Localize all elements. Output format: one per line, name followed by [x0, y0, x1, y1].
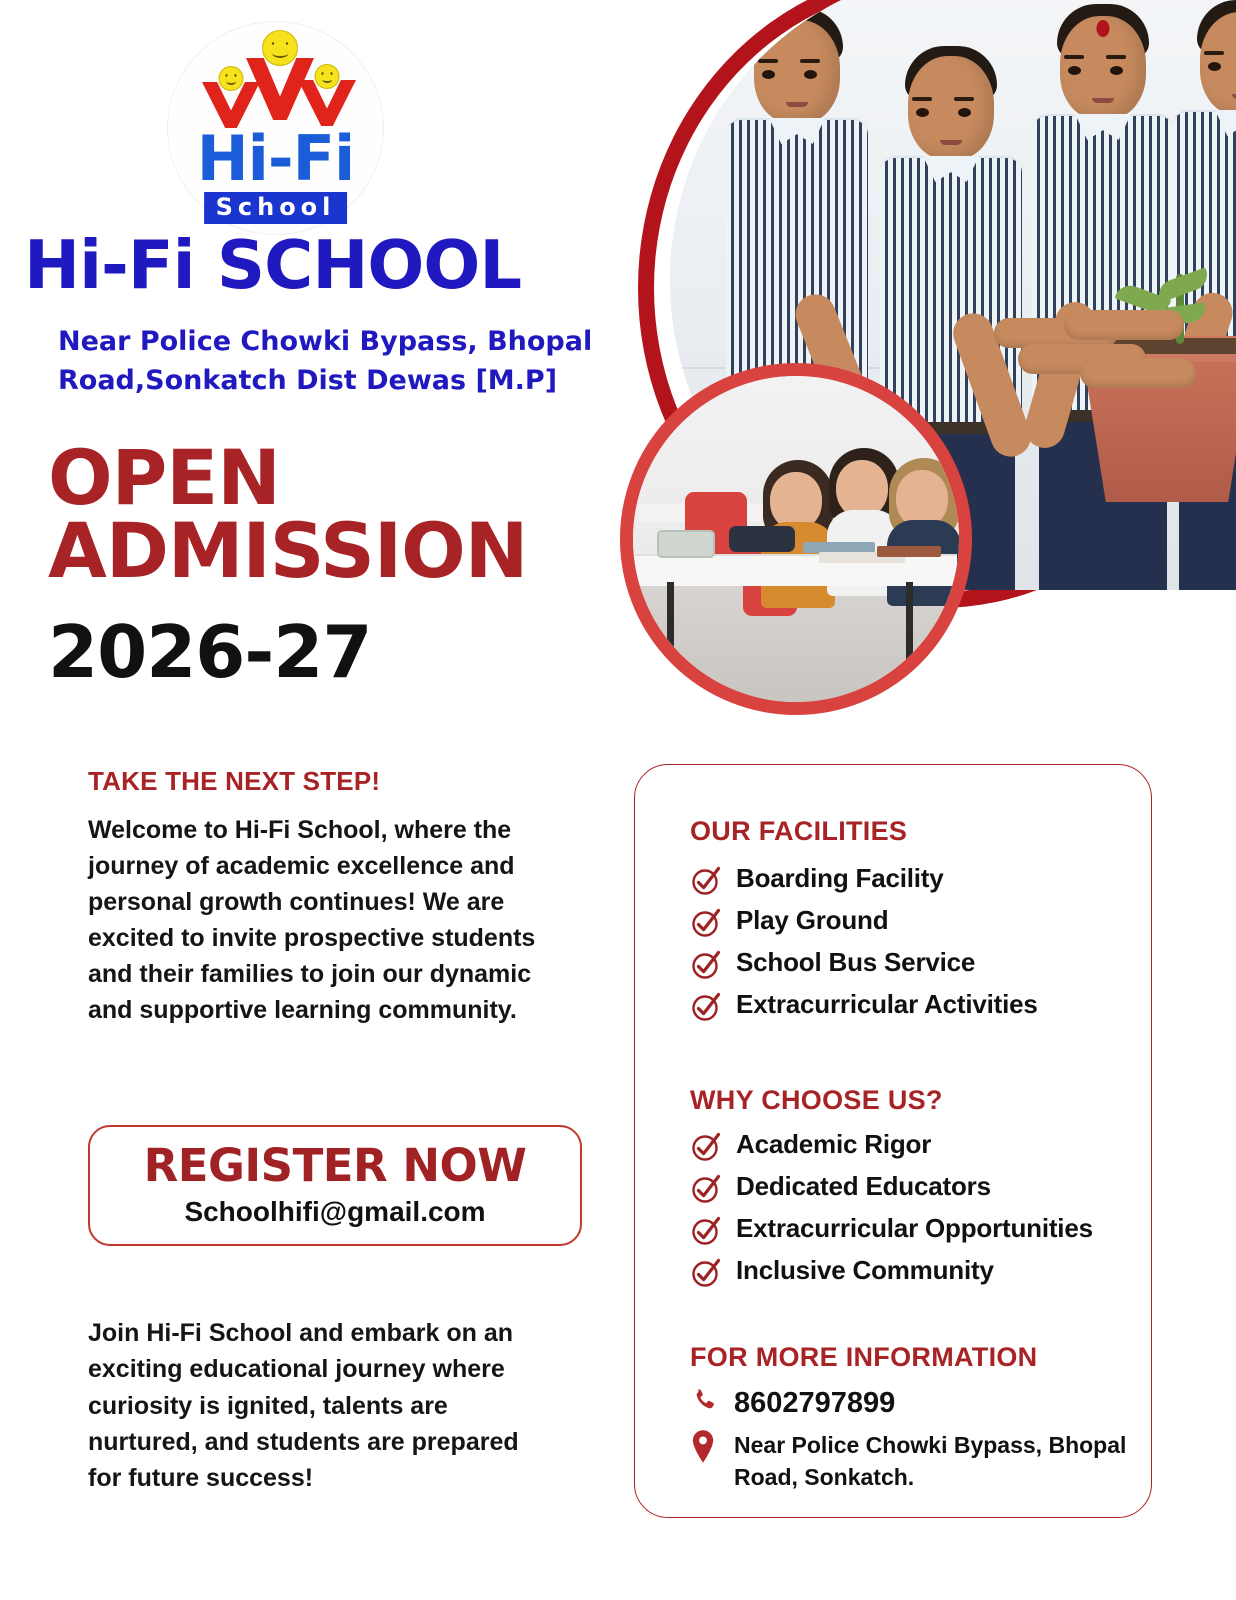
page-title: Hi-Fi SCHOOL [24, 232, 614, 299]
register-email[interactable]: Schoolhifi@gmail.com [184, 1196, 485, 1228]
contact-address-line-1: Near Police Chowki Bypass, Bhopal [734, 1430, 1126, 1462]
admission-poster: Hi-Fi School Hi-Fi SCHOOL Near Police Ch… [0, 0, 1236, 1600]
register-now-label: REGISTER NOW [144, 1143, 527, 1188]
facilities-title: OUR FACILITIES [690, 816, 907, 847]
why-choose-us-item-label: Extracurricular Opportunities [736, 1214, 1093, 1243]
contact-details: 8602797899 Near Police Chowki Bypass, Bh… [690, 1386, 1130, 1503]
academic-session: 2026-27 [48, 616, 371, 688]
intro-paragraph: Welcome to Hi-Fi School, where the journ… [88, 812, 558, 1028]
why-choose-us-item: Inclusive Community [690, 1256, 1140, 1289]
logo-children-icon [168, 44, 383, 132]
logo-wordmark: Hi-Fi [168, 128, 383, 190]
contact-title: FOR MORE INFORMATION [690, 1342, 1037, 1373]
why-choose-us-item-label: Inclusive Community [736, 1256, 994, 1285]
check-circle-icon [690, 1173, 722, 1205]
contact-address-row: Near Police Chowki Bypass, Bhopal Road, … [690, 1430, 1130, 1493]
headline-line-2: ADMISSION [48, 515, 608, 588]
book [877, 546, 941, 557]
facilities-list: Boarding FacilityPlay GroundSchool Bus S… [690, 864, 1140, 1032]
contact-phone-row[interactable]: 8602797899 [690, 1386, 1130, 1420]
school-address-line-1: Near Police Chowki Bypass, Bhopal [58, 322, 598, 361]
location-pin-icon [690, 1430, 718, 1464]
facility-item: Extracurricular Activities [690, 990, 1140, 1023]
facility-item: School Bus Service [690, 948, 1140, 981]
headline-open-admission: OPEN ADMISSION [48, 442, 608, 588]
facility-item-label: Boarding Facility [736, 864, 944, 893]
why-choose-us-title: WHY CHOOSE US? [690, 1085, 943, 1116]
check-circle-icon [690, 949, 722, 981]
register-now-button[interactable]: REGISTER NOW Schoolhifi@gmail.com [88, 1125, 582, 1246]
facility-item-label: Extracurricular Activities [736, 990, 1038, 1019]
facility-item: Boarding Facility [690, 864, 1140, 897]
inset-photo-girls-studying [620, 363, 972, 715]
facility-item: Play Ground [690, 906, 1140, 939]
contact-address: Near Police Chowki Bypass, Bhopal Road, … [734, 1430, 1126, 1493]
school-address: Near Police Chowki Bypass, Bhopal Road,S… [58, 322, 598, 400]
outro-paragraph: Join Hi-Fi School and embark on an excit… [88, 1315, 550, 1496]
headline-line-1: OPEN [48, 442, 608, 515]
facility-item-label: School Bus Service [736, 948, 975, 977]
school-logo: Hi-Fi School [168, 22, 383, 234]
lunch-box [657, 530, 715, 558]
check-circle-icon [690, 991, 722, 1023]
check-circle-icon [690, 1215, 722, 1247]
why-choose-us-item-label: Dedicated Educators [736, 1172, 991, 1201]
phone-icon [690, 1386, 718, 1420]
check-circle-icon [690, 1131, 722, 1163]
stacked-hands [994, 310, 1214, 380]
section-kicker: TAKE THE NEXT STEP! [88, 766, 380, 797]
why-choose-us-list: Academic RigorDedicated EducatorsExtracu… [690, 1130, 1140, 1298]
why-choose-us-item: Academic Rigor [690, 1130, 1140, 1163]
check-circle-icon [690, 865, 722, 897]
facility-item-label: Play Ground [736, 906, 888, 935]
check-circle-icon [690, 1257, 722, 1289]
pencil-case [729, 526, 795, 552]
logo-subtext: School [204, 192, 348, 224]
why-choose-us-item: Extracurricular Opportunities [690, 1214, 1140, 1247]
why-choose-us-item-label: Academic Rigor [736, 1130, 931, 1159]
school-address-line-2: Road,Sonkatch Dist Dewas [M.P] [58, 361, 598, 400]
phone-number[interactable]: 8602797899 [734, 1386, 895, 1420]
why-choose-us-item: Dedicated Educators [690, 1172, 1140, 1205]
contact-address-line-2: Road, Sonkatch. [734, 1462, 1126, 1494]
check-circle-icon [690, 907, 722, 939]
